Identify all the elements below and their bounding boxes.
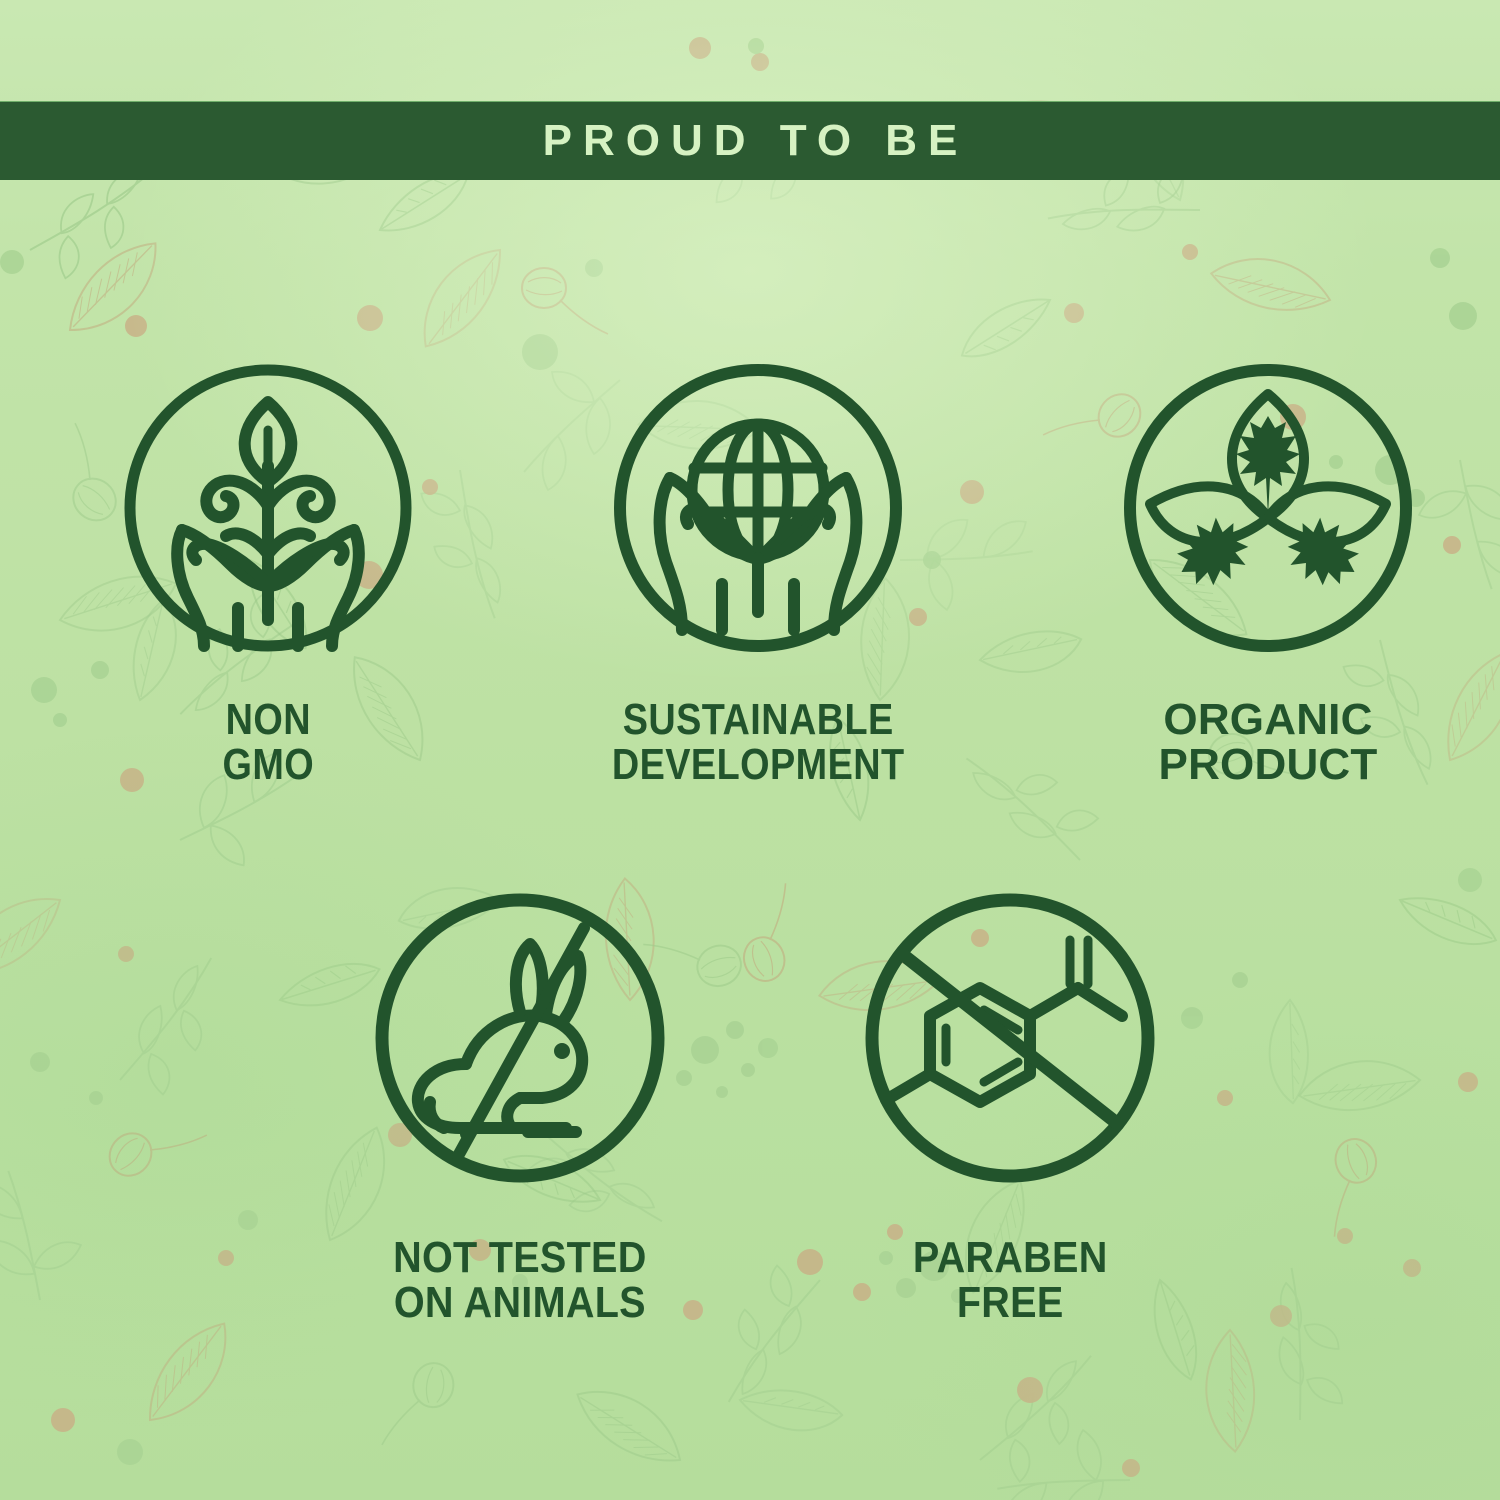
badge-paraben-free[interactable]: PARABEN FREE: [860, 888, 1160, 1326]
badge-organic-product[interactable]: ORGANIC PRODUCT: [1118, 358, 1418, 788]
trefoil-leaves-icon: [1118, 358, 1418, 658]
badge-label-not-tested-on-animals: NOT TESTED ON ANIMALS: [393, 1236, 647, 1326]
proud-to-be-banner: PROUD TO BE: [0, 101, 1500, 180]
badge-label-organic-product: ORGANIC PRODUCT: [1159, 698, 1378, 788]
badge-label-paraben-free: PARABEN FREE: [913, 1236, 1108, 1326]
banner-title: PROUD TO BE: [532, 119, 969, 163]
badge-not-tested-on-animals[interactable]: NOT TESTED ON ANIMALS: [370, 888, 670, 1326]
badge-sustainable-development[interactable]: SUSTAINABLE DEVELOPMENT: [608, 358, 908, 788]
badge-label-non-gmo: NON GMO: [222, 698, 314, 788]
hands-holding-globe-icon: [608, 358, 908, 658]
proud-to-be-badge-poster: PROUD TO BE: [0, 0, 1500, 1500]
crossed-out-rabbit-icon: [370, 888, 670, 1188]
badge-label-sustainable-development: SUSTAINABLE DEVELOPMENT: [612, 698, 905, 788]
hands-holding-plant-icon: [118, 358, 418, 658]
crossed-out-benzene-molecule-icon: [860, 888, 1160, 1188]
badge-non-gmo[interactable]: NON GMO: [118, 358, 418, 788]
